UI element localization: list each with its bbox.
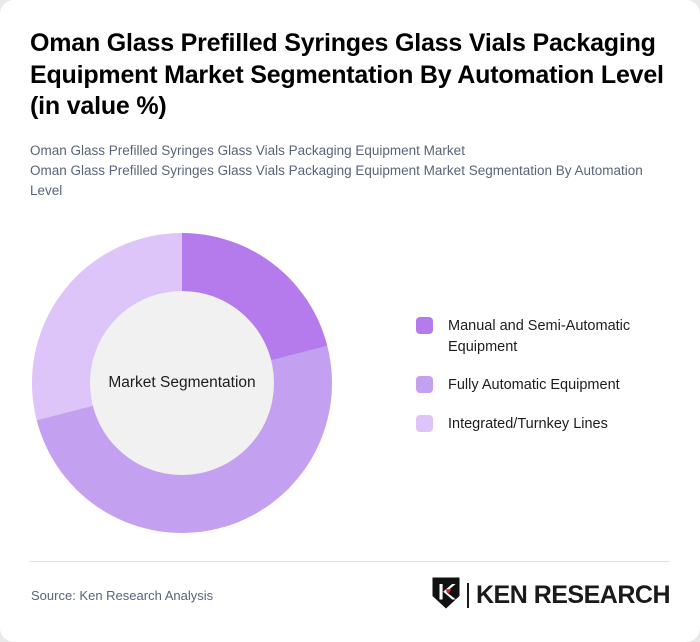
donut-center-label: Market Segmentation <box>108 374 255 392</box>
ken-research-logo: KEN RESEARCH <box>431 578 670 612</box>
source-text: Source: Ken Research Analysis <box>31 588 213 603</box>
chart-card: Oman Glass Prefilled Syringes Glass Vial… <box>0 0 700 642</box>
chart-area: Market Segmentation Manual and Semi-Auto… <box>0 222 700 552</box>
footer-divider <box>30 561 670 562</box>
donut-hole: Market Segmentation <box>90 291 274 475</box>
legend-swatch-icon <box>416 415 433 432</box>
subtitle-line-2: Oman Glass Prefilled Syringes Glass Vial… <box>30 161 660 202</box>
legend-item-label: Manual and Semi-Automatic Equipment <box>448 316 668 357</box>
legend-swatch-icon <box>416 317 433 334</box>
legend-item-integrated-turnkey[interactable]: Integrated/Turnkey Lines <box>416 414 668 435</box>
page-title: Oman Glass Prefilled Syringes Glass Vial… <box>30 28 670 123</box>
subtitle-line-1: Oman Glass Prefilled Syringes Glass Vial… <box>30 141 660 161</box>
donut-chart: Market Segmentation <box>32 233 332 533</box>
logo-separator <box>467 583 469 608</box>
chart-subtitle: Oman Glass Prefilled Syringes Glass Vial… <box>30 141 660 202</box>
legend-item-manual-semi-automatic[interactable]: Manual and Semi-Automatic Equipment <box>416 316 668 357</box>
legend-item-label: Fully Automatic Equipment <box>448 375 620 396</box>
legend-item-fully-automatic[interactable]: Fully Automatic Equipment <box>416 375 668 396</box>
logo-wordmark: KEN RESEARCH <box>476 581 670 610</box>
legend-swatch-icon <box>416 376 433 393</box>
chart-legend: Manual and Semi-Automatic Equipment Full… <box>416 316 668 452</box>
shield-icon <box>431 576 461 615</box>
legend-item-label: Integrated/Turnkey Lines <box>448 414 608 435</box>
